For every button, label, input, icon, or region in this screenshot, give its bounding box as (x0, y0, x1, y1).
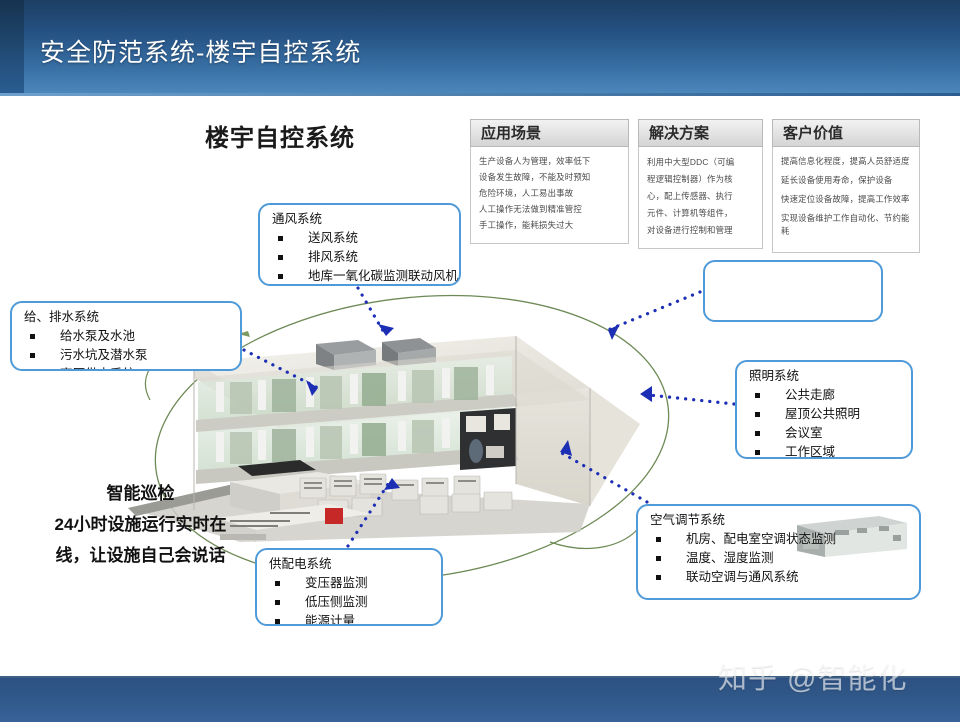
callout-list-item: 联动空调与通风系统 (656, 568, 919, 587)
callout-list-item: 污水坑及潜水泵 (30, 346, 240, 365)
slogan-text: 智能巡检 24小时设施运行实时在 线，让设施自己会说话 (28, 478, 253, 571)
info-line: 元件、计算机等组件， (647, 206, 756, 220)
callout-title: 供配电系统 (257, 550, 441, 574)
page-title: 安全防范系统-楼宇自控系统 (40, 33, 361, 69)
info-line: 心，配上传感器、执行 (647, 189, 756, 203)
info-line: 设备发生故障，不能及时预知 (479, 171, 622, 184)
info-line: 利用中大型DDC（可编 (647, 155, 756, 169)
callout-power-distribution[interactable]: 供配电系统 变压器监测 低压侧监测 能源计量 (255, 548, 443, 626)
info-line: 手工操作，能耗损失过大 (479, 219, 622, 232)
info-line: 提高信息化程度，提高人员舒适度 (781, 155, 913, 168)
callout-empty[interactable] (703, 260, 883, 322)
watermark: 知乎 @智能化 (718, 655, 908, 697)
info-line: 延长设备使用寿命，保护设备 (781, 174, 913, 187)
callout-list: 给水泵及水池 污水坑及潜水泵 高压供水系统 (12, 327, 240, 371)
info-column-scenario: 应用场景 生产设备人为管理，效率低下 设备发生故障，不能及时预知 危险环境，人工… (470, 119, 629, 253)
callout-title (705, 262, 881, 270)
lobby-area (460, 408, 516, 470)
callout-list-item: 高压供水系统 (30, 365, 240, 371)
slogan-line-2: 24小时设施运行实时在 (28, 509, 253, 540)
callout-list-item: 温度、湿度监测 (656, 549, 919, 568)
info-column-body: 利用中大型DDC（可编 程逻辑控制器）作为核 心，配上传感器、执行 元件、计算机… (638, 147, 763, 249)
info-column-value: 客户价值 提高信息化程度，提高人员舒适度 延长设备使用寿命，保护设备 快速定位设… (772, 119, 920, 253)
callout-list-item: 会议室 (755, 424, 911, 443)
callout-list: 公共走廊 屋顶公共照明 会议室 工作区域 (737, 386, 911, 459)
callout-list-item: 低压侧监测 (275, 593, 441, 612)
header-underline (0, 93, 960, 96)
callout-list: 机房、配电室空调状态监测 温度、湿度监测 联动空调与通风系统 (638, 530, 919, 587)
callout-list-item: 送风系统 (278, 229, 459, 248)
info-line: 生产设备人为管理，效率低下 (479, 155, 622, 168)
info-line: 危险环境，人工易出事故 (479, 187, 622, 200)
callout-title: 给、排水系统 (12, 303, 240, 327)
callout-water-supply-drainage[interactable]: 给、排水系统 给水泵及水池 污水坑及潜水泵 高压供水系统 (10, 301, 242, 371)
info-column-body: 生产设备人为管理，效率低下 设备发生故障，不能及时预知 危险环境，人工易出事故 … (470, 147, 629, 244)
slide-canvas: 安全防范系统-楼宇自控系统 楼宇自控系统 应用场景 生产设备人为管理，效率低下 … (0, 0, 960, 720)
callout-list-item: 排风系统 (278, 248, 459, 267)
info-line: 快速定位设备故障，提高工作效率 (781, 193, 913, 206)
callout-list: 送风系统 排风系统 地库一氧化碳监测联动风机 (260, 229, 459, 286)
slogan-line-3: 线，让设施自己会说话 (28, 540, 253, 571)
callout-title: 通风系统 (260, 205, 459, 229)
callout-list-item: 地库一氧化碳监测联动风机 (278, 267, 459, 286)
info-line: 人工操作无法做到精准管控 (479, 203, 622, 216)
info-table: 应用场景 生产设备人为管理，效率低下 设备发生故障，不能及时预知 危险环境，人工… (470, 119, 920, 253)
callout-list-item: 给水泵及水池 (30, 327, 240, 346)
callout-list-item: 公共走廊 (755, 386, 911, 405)
callout-air-conditioning[interactable]: 空气调节系统 机房、配电室空调状态监测 温度、湿度监测 联动空调与通风系统 (636, 504, 921, 600)
info-column-header: 解决方案 (638, 119, 763, 147)
callout-lighting[interactable]: 照明系统 公共走廊 屋顶公共照明 会议室 工作区域 (735, 360, 913, 459)
info-line: 程逻辑控制器）作为核 (647, 172, 756, 186)
callout-list-item: 变压器监测 (275, 574, 441, 593)
info-line: 对设备进行控制和管理 (647, 223, 756, 237)
header-accent-stripe (0, 0, 24, 93)
info-column-solution: 解决方案 利用中大型DDC（可编 程逻辑控制器）作为核 心，配上传感器、执行 元… (638, 119, 763, 253)
callout-list-item: 能源计量 (275, 612, 441, 626)
info-column-header: 客户价值 (772, 119, 920, 147)
info-line: 实现设备维护工作自动化、节约能耗 (781, 212, 913, 238)
callout-list-item: 工作区域 (755, 443, 911, 459)
callout-list-item: 屋顶公共照明 (755, 405, 911, 424)
info-column-header: 应用场景 (470, 119, 629, 147)
slogan-line-1: 智能巡检 (28, 478, 253, 509)
info-column-body: 提高信息化程度，提高人员舒适度 延长设备使用寿命，保护设备 快速定位设备故障，提… (772, 147, 920, 253)
callout-list-item: 机房、配电室空调状态监测 (656, 530, 919, 549)
callout-title: 照明系统 (737, 362, 911, 386)
main-heading: 楼宇自控系统 (205, 118, 355, 153)
callout-list: 变压器监测 低压侧监测 能源计量 (257, 574, 441, 626)
callout-ventilation[interactable]: 通风系统 送风系统 排风系统 地库一氧化碳监测联动风机 (258, 203, 461, 286)
